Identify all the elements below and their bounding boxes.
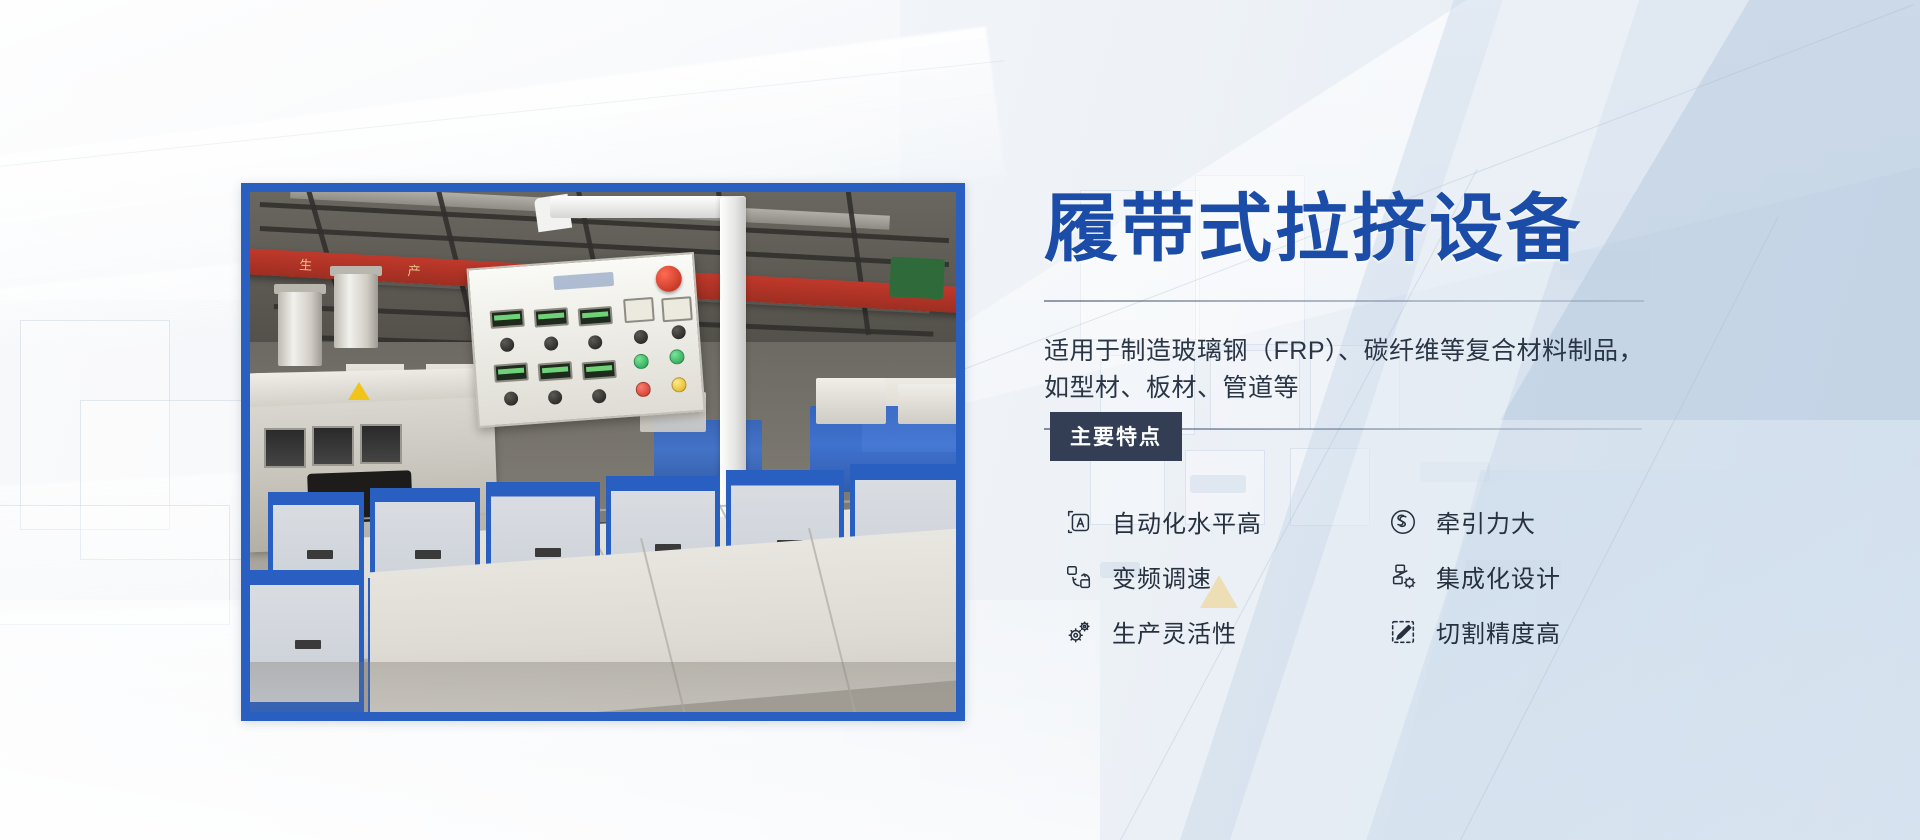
subtitle-text: 适用于制造玻璃钢（FRP）、碳纤维等复合材料制品，如型材、板材、管道等 bbox=[1044, 333, 1664, 406]
photo-indicator-lamp bbox=[633, 353, 649, 369]
photo-cabinet-slot bbox=[535, 548, 561, 557]
photo-knob bbox=[544, 336, 559, 351]
photo-cabinet-slot bbox=[307, 550, 333, 559]
photo-machine-window bbox=[312, 426, 354, 466]
photo-gantry-arm bbox=[550, 196, 746, 218]
feature-list: 自动化水平高 牵引力大 bbox=[1042, 494, 1802, 659]
photo-digital-meter bbox=[534, 307, 569, 327]
feature-item-cut-precision[interactable]: 切割精度高 bbox=[1382, 604, 1712, 659]
photo-crane-hoist bbox=[889, 257, 945, 300]
product-banner: 生 产 车 间 bbox=[0, 0, 1920, 840]
feature-label: 变频调速 bbox=[1112, 559, 1212, 594]
feature-item-integration[interactable]: 集成化设计 bbox=[1382, 549, 1712, 604]
photo-digital-meter bbox=[578, 306, 613, 326]
frequency-node-icon bbox=[1064, 562, 1094, 592]
photo-knob bbox=[633, 329, 648, 344]
title-divider bbox=[1044, 300, 1644, 302]
gears-icon bbox=[1064, 617, 1094, 647]
photo-digital-meter bbox=[582, 360, 617, 380]
photo-cabinet-slot bbox=[295, 640, 321, 649]
photo-analog-gauge bbox=[623, 297, 655, 323]
feature-label: 自动化水平高 bbox=[1112, 504, 1262, 539]
photo-indicator-lamp bbox=[669, 349, 685, 365]
traction-swirl-icon bbox=[1388, 507, 1418, 537]
photo-knob bbox=[588, 335, 603, 350]
photo-knob bbox=[500, 337, 515, 352]
photo-knob bbox=[504, 391, 519, 406]
feature-label: 生产灵活性 bbox=[1112, 614, 1237, 649]
photo-indicator-lamp bbox=[671, 377, 687, 393]
page-title: 履带式拉挤设备 bbox=[1044, 192, 1583, 266]
photo-analog-gauge bbox=[661, 296, 693, 322]
integration-gear-node-icon bbox=[1388, 562, 1418, 592]
banner-content: 履带式拉挤设备 适用于制造玻璃钢（FRP）、碳纤维等复合材料制品，如型材、板材、… bbox=[1042, 0, 1902, 840]
photo-machine-window bbox=[360, 424, 402, 464]
feature-label: 集成化设计 bbox=[1436, 559, 1561, 594]
photo-digital-meter bbox=[494, 362, 529, 382]
photo-indicator-lamp bbox=[635, 381, 651, 397]
feature-item-frequency[interactable]: 变频调速 bbox=[1042, 549, 1372, 604]
feature-label: 切割精度高 bbox=[1436, 614, 1561, 649]
feature-item-automation[interactable]: 自动化水平高 bbox=[1042, 494, 1372, 549]
photo-far-machine bbox=[816, 378, 886, 424]
photo-far-machine bbox=[898, 384, 956, 424]
photo-floor-shadow bbox=[250, 662, 956, 712]
photo-cabinet-slot bbox=[415, 550, 441, 559]
feature-item-traction[interactable]: 牵引力大 bbox=[1382, 494, 1712, 549]
photo-control-panel bbox=[466, 252, 705, 428]
photo-knob bbox=[592, 389, 607, 404]
feature-item-flexibility[interactable]: 生产灵活性 bbox=[1042, 604, 1372, 659]
photo-hopper bbox=[278, 292, 322, 366]
photo-knob bbox=[548, 390, 563, 405]
photo-emergency-stop bbox=[655, 265, 683, 293]
photo-digital-meter bbox=[538, 361, 573, 381]
feature-label: 牵引力大 bbox=[1436, 504, 1536, 539]
photo-machine-window bbox=[264, 428, 306, 468]
photo-hopper bbox=[334, 274, 378, 348]
photo-digital-meter bbox=[490, 308, 525, 328]
product-photo-card[interactable]: 生 产 车 间 bbox=[241, 183, 965, 721]
automation-a-icon bbox=[1064, 507, 1094, 537]
product-photo: 生 产 车 间 bbox=[250, 192, 956, 712]
ghost-panel bbox=[20, 320, 170, 530]
photo-knob bbox=[671, 325, 686, 340]
photo-control-logo bbox=[553, 272, 614, 290]
precision-cut-pen-icon bbox=[1388, 617, 1418, 647]
status-badge: 主要特点 bbox=[1050, 412, 1182, 461]
